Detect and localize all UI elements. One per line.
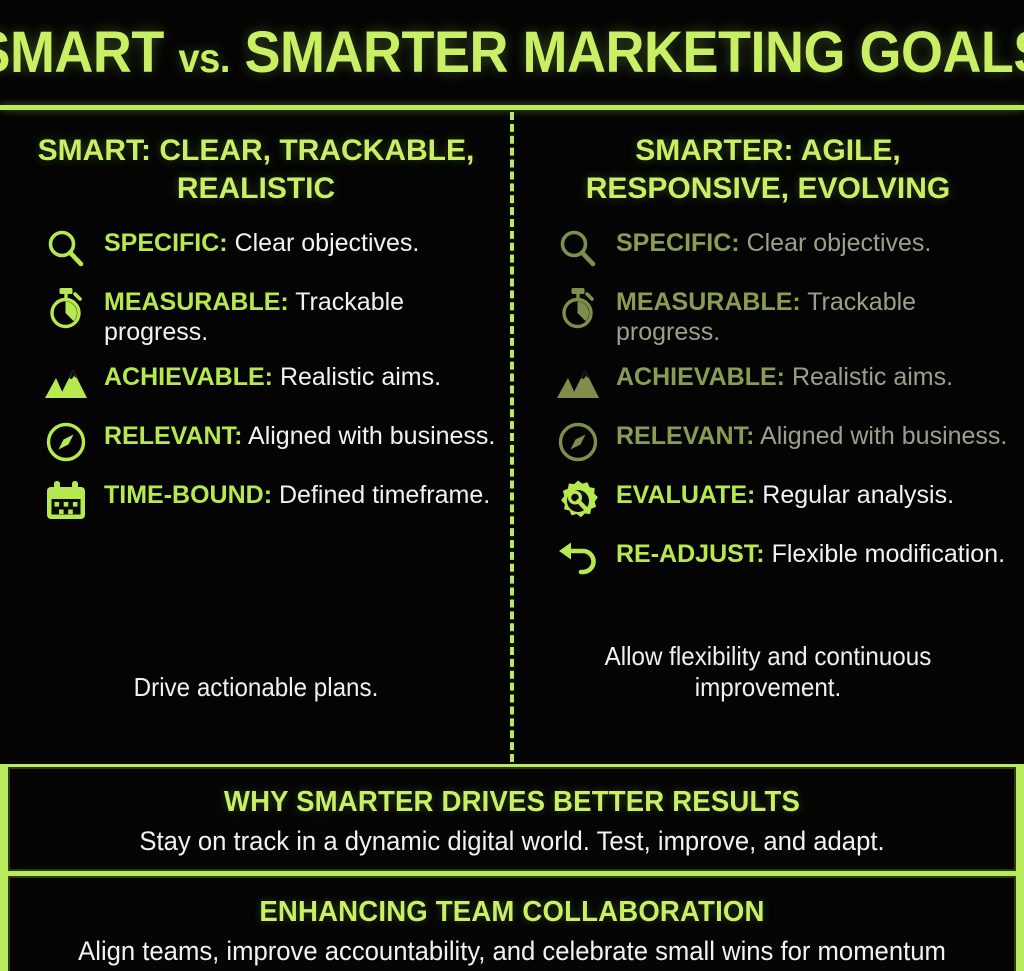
- list-item-desc: Flexible modification.: [772, 540, 1005, 568]
- list-item-label: SPECIFIC:: [616, 229, 740, 257]
- column-smarter: SMARTER: AGILE, RESPONSIVE, EVOLVING SPE…: [512, 110, 1024, 762]
- list-item-desc: Aligned with business.: [760, 422, 1007, 450]
- title-part-after: SMARTER MARKETING GOALS: [230, 20, 1024, 85]
- mountain-icon: [552, 360, 604, 406]
- list-item-text: RELEVANT: Aligned with business.: [104, 417, 495, 451]
- list-item: RE-ADJUST: Flexible modification.: [552, 535, 1008, 583]
- list-item-desc: Defined timeframe.: [279, 481, 490, 509]
- undo-arrow-icon: [552, 537, 604, 583]
- title-vs: vs.: [179, 35, 231, 81]
- list-item-label: MEASURABLE:: [616, 288, 801, 316]
- list-item-text: MEASURABLE: Trackable progress.: [104, 283, 496, 347]
- list-item: SPECIFIC: Clear objectives.: [552, 224, 1008, 272]
- list-item-label: SPECIFIC:: [104, 229, 228, 257]
- list-item-desc: Clear objectives.: [235, 229, 420, 257]
- column-separator: [510, 112, 514, 762]
- list-item: ACHIEVABLE: Realistic aims.: [40, 358, 496, 406]
- panel-team-collaboration-subtext: Align teams, improve accountability, and…: [35, 936, 989, 967]
- list-item-text: SPECIFIC: Clear objectives.: [616, 224, 931, 258]
- list-item: EVALUATE: Regular analysis.: [552, 476, 1008, 524]
- list-item-desc: Realistic aims.: [280, 363, 441, 391]
- magnifier-icon: [552, 226, 604, 272]
- title-part-before: SMART: [0, 20, 179, 85]
- list-item-text: ACHIEVABLE: Realistic aims.: [616, 358, 953, 392]
- column-smart-heading: SMART: CLEAR, TRACKABLE, REALISTIC: [0, 132, 512, 208]
- magnifier-icon: [40, 226, 92, 272]
- stopwatch-icon: [552, 285, 604, 331]
- page-title-text: SMART vs. SMARTER MARKETING GOALS: [0, 19, 1024, 86]
- list-item-text: EVALUATE: Regular analysis.: [616, 476, 954, 510]
- list-item-text: RE-ADJUST: Flexible modification.: [616, 535, 1005, 569]
- list-item: TIME-BOUND: Defined timeframe.: [40, 476, 496, 524]
- panel-why-smarter: WHY SMARTER DRIVES BETTER RESULTS Stay o…: [8, 767, 1016, 871]
- mountain-icon: [40, 360, 92, 406]
- list-item-label: RE-ADJUST:: [616, 540, 765, 568]
- list-item-text: RELEVANT: Aligned with business.: [616, 417, 1007, 451]
- panel-team-collaboration: ENHANCING TEAM COLLABORATION Align teams…: [8, 876, 1016, 971]
- column-smarter-heading: SMARTER: AGILE, RESPONSIVE, EVOLVING: [512, 132, 1024, 208]
- list-item-desc: Realistic aims.: [792, 363, 953, 391]
- list-item: RELEVANT: Aligned with business.: [552, 417, 1008, 465]
- list-item-desc: Clear objectives.: [747, 229, 932, 257]
- list-item-desc: Aligned with business.: [248, 422, 495, 450]
- gear-wrench-icon: [552, 478, 604, 524]
- list-item: RELEVANT: Aligned with business.: [40, 417, 496, 465]
- bottom-banners: WHY SMARTER DRIVES BETTER RESULTS Stay o…: [0, 764, 1024, 971]
- list-item-desc: Regular analysis.: [762, 481, 954, 509]
- panel-why-smarter-heading: WHY SMARTER DRIVES BETTER RESULTS: [35, 786, 989, 819]
- column-smarter-items: SPECIFIC: Clear objectives. MEASURABLE: …: [512, 224, 1024, 583]
- column-smart-tagline: Drive actionable plans.: [18, 672, 494, 704]
- page-title: SMART vs. SMARTER MARKETING GOALS: [0, 0, 1024, 104]
- list-item-label: MEASURABLE:: [104, 288, 289, 316]
- list-item-label: RELEVANT:: [616, 422, 754, 450]
- column-smart: SMART: CLEAR, TRACKABLE, REALISTIC SPECI…: [0, 110, 512, 762]
- infographic-root: SMART vs. SMARTER MARKETING GOALS SMART:…: [0, 0, 1024, 971]
- list-item: SPECIFIC: Clear objectives.: [40, 224, 496, 272]
- list-item-label: ACHIEVABLE:: [104, 363, 273, 391]
- panel-team-collaboration-heading: ENHANCING TEAM COLLABORATION: [35, 896, 989, 929]
- list-item: MEASURABLE: Trackable progress.: [40, 283, 496, 347]
- list-item: MEASURABLE: Trackable progress.: [552, 283, 1008, 347]
- calendar-icon: [40, 478, 92, 524]
- column-smarter-tagline: Allow flexibility and continuous improve…: [530, 641, 1006, 704]
- compass-icon: [552, 419, 604, 465]
- list-item-label: ACHIEVABLE:: [616, 363, 785, 391]
- compass-icon: [40, 419, 92, 465]
- column-smart-items: SPECIFIC: Clear objectives. MEASURABLE: …: [0, 224, 512, 524]
- list-item-label: EVALUATE:: [616, 481, 755, 509]
- list-item-label: TIME-BOUND:: [104, 481, 272, 509]
- panel-why-smarter-subtext: Stay on track in a dynamic digital world…: [35, 826, 989, 857]
- list-item-text: MEASURABLE: Trackable progress.: [616, 283, 1008, 347]
- list-item-text: ACHIEVABLE: Realistic aims.: [104, 358, 441, 392]
- list-item-text: SPECIFIC: Clear objectives.: [104, 224, 419, 258]
- list-item-label: RELEVANT:: [104, 422, 242, 450]
- list-item-text: TIME-BOUND: Defined timeframe.: [104, 476, 490, 510]
- stopwatch-icon: [40, 285, 92, 331]
- list-item: ACHIEVABLE: Realistic aims.: [552, 358, 1008, 406]
